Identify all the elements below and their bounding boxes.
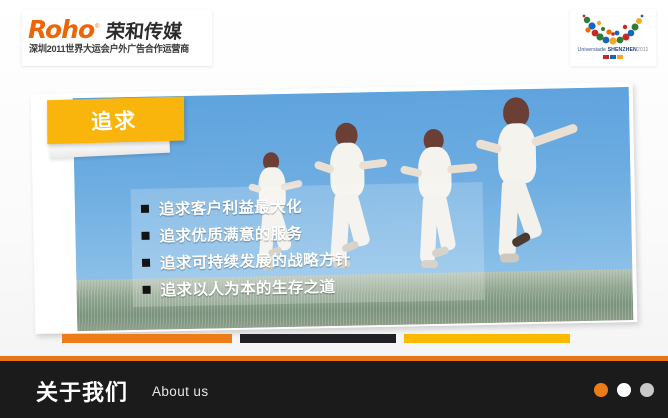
universiade-caption: Universiade SHENZHEN2011: [570, 47, 656, 53]
bullet-square-icon: [143, 285, 151, 293]
accent-bar-orange: [62, 334, 232, 343]
bullet-text: 追求客户利益最大化: [159, 194, 303, 219]
slide-header: Roho ® 荣和传媒 深圳2011世界大运会户外广告合作运营商: [0, 0, 668, 78]
accent-bar-yellow: [404, 334, 570, 343]
universiade-year: 2011: [637, 47, 649, 53]
section-tab: 追求: [47, 97, 184, 145]
runner-figure-4: [473, 96, 587, 288]
bullet-square-icon: [141, 204, 149, 212]
content-card: 追求客户利益最大化 追求优质满意的服务 追求可持续发展的战略方针 追求以人为本的…: [31, 82, 638, 334]
accent-bar-row: [0, 334, 668, 346]
roho-brand-logo: Roho ® 荣和传媒 深圳2011世界大运会户外广告合作运营商: [22, 10, 212, 66]
bullet-list-panel: 追求客户利益最大化 追求优质满意的服务 追求可持续发展的战略方针 追求以人为本的…: [131, 182, 485, 307]
brand-chinese-name: 荣和传媒: [105, 22, 183, 42]
section-tab-label: 追求: [91, 105, 138, 136]
bullet-item-4: 追求以人为本的生存之道: [142, 269, 476, 303]
universiade-logo: Universiade SHENZHEN2011: [570, 9, 656, 66]
pagination-dot-active[interactable]: [594, 383, 608, 397]
universiade-badge-icon: [603, 55, 623, 59]
accent-bar-dark: [240, 334, 396, 343]
brand-wordmark: Roho: [28, 17, 94, 42]
runner-arm: [447, 163, 478, 174]
bullet-text: 追求可持续发展的战略方针: [160, 247, 351, 273]
universiade-flower-icon: [579, 13, 647, 47]
bullet-square-icon: [141, 231, 149, 239]
brand-subtitle: 深圳2011世界大运会户外广告合作运营商: [29, 44, 200, 56]
registered-mark-icon: ®: [95, 24, 99, 30]
runner-shoe: [500, 253, 519, 262]
universiade-city: SHENZHEN: [608, 47, 637, 53]
brand-wordmark-row: Roho ® 荣和传媒: [28, 14, 208, 42]
footer-title-en: About us: [152, 384, 209, 399]
runner-arm: [530, 123, 578, 147]
bullet-text: 追求优质满意的服务: [159, 221, 303, 246]
runner-torso: [497, 123, 536, 184]
footer-title-cn: 关于我们: [36, 375, 128, 407]
pagination-dot-2[interactable]: [617, 383, 631, 397]
slide-footer: 关于我们 About us: [0, 361, 668, 418]
universiade-name: Universiade: [578, 47, 607, 53]
slide-pagination-dots[interactable]: [594, 383, 654, 397]
bullet-square-icon: [142, 258, 150, 266]
bullet-text: 追求以人为本的生存之道: [160, 274, 335, 300]
slide-canvas: Roho ® 荣和传媒 深圳2011世界大运会户外广告合作运营商: [0, 0, 668, 418]
pagination-dot-3[interactable]: [640, 383, 654, 397]
